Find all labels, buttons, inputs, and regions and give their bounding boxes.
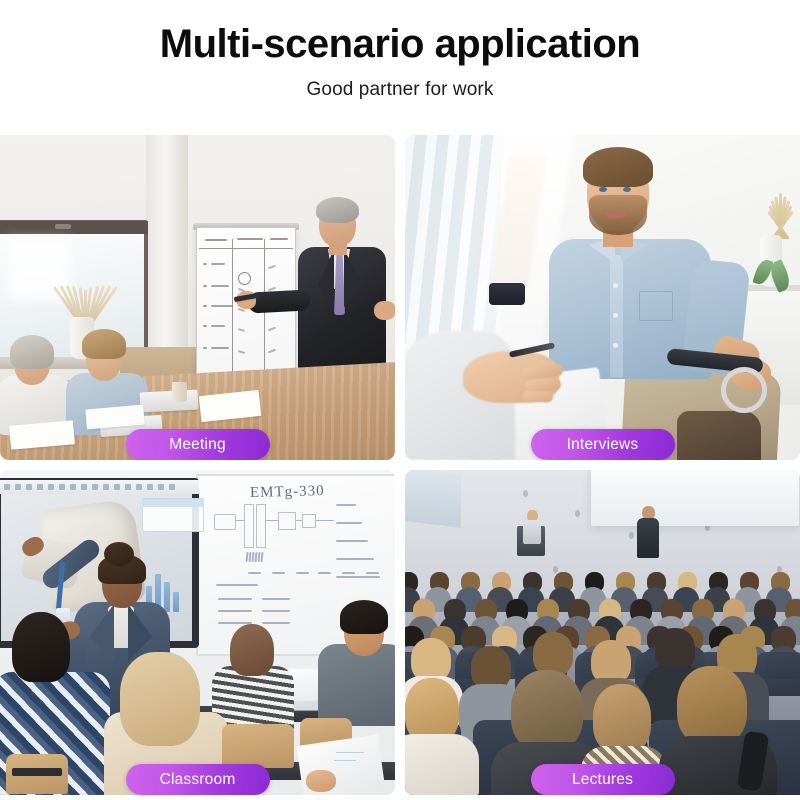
page-subtitle: Good partner for work [0,79,800,101]
whiteboard-title: EMTg-330 [250,483,325,502]
scenario-badge-meeting[interactable]: Meeting [126,429,270,460]
meeting-photo: Meeting [0,135,395,460]
page-title: Multi-scenario application [0,22,800,67]
interviews-photo: Interviews [405,135,800,460]
scenario-badge-classroom[interactable]: Classroom [126,764,270,795]
page-header: Multi-scenario application Good partner … [0,0,800,101]
classroom-photo: EMTg-330 [0,470,395,795]
audience [405,470,800,795]
scenario-badge-lectures[interactable]: Lectures [531,764,675,795]
scenario-tile-lectures[interactable]: Lectures [405,470,800,795]
scenario-tile-interviews[interactable]: Interviews [405,135,800,460]
scenario-tile-meeting[interactable]: Meeting [0,135,395,460]
lectures-photo: Lectures [405,470,800,795]
scenario-tile-classroom[interactable]: EMTg-330 [0,470,395,795]
scenario-grid: Meeting [0,135,800,800]
scenario-badge-interviews[interactable]: Interviews [531,429,675,460]
